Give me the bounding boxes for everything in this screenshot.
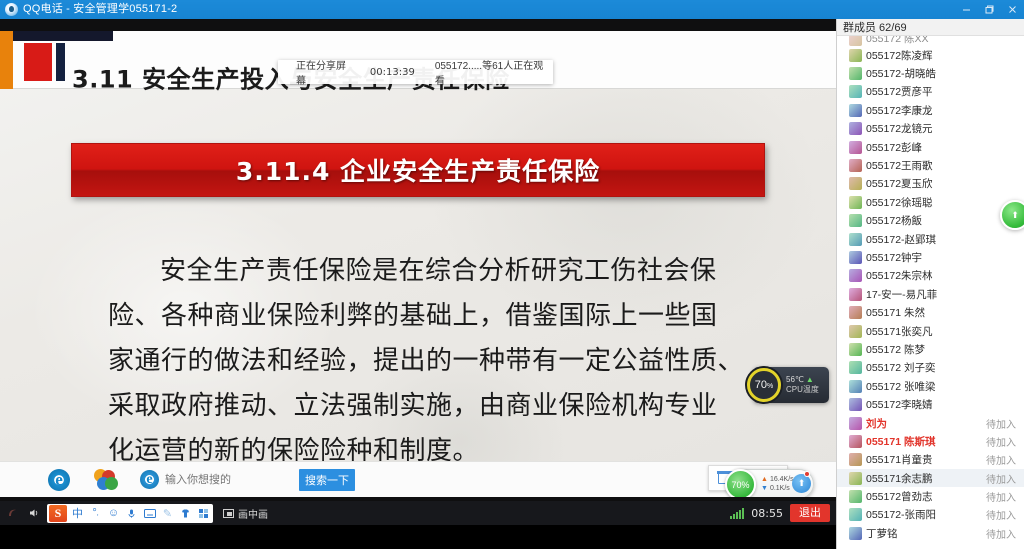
volume-icon[interactable]	[27, 506, 41, 520]
handwriting-icon[interactable]: ✎	[160, 506, 175, 521]
slide-body-line: 采取政府推动、立法强制实施，由商业保险机构专业	[108, 384, 738, 429]
member-avatar	[849, 49, 862, 62]
header-orange-bar	[0, 31, 13, 89]
cpu-temperature-value: 56℃▲	[786, 375, 819, 385]
member-avatar	[849, 288, 862, 301]
member-row[interactable]: 055172李晓婧	[837, 395, 1024, 413]
member-avatar	[849, 233, 862, 246]
member-avatar	[849, 343, 862, 356]
member-avatar	[849, 417, 862, 430]
minimize-icon[interactable]	[955, 0, 978, 19]
download-speed-value: 0.1K/s	[770, 484, 790, 493]
member-row[interactable]: 055172-胡晓皓	[837, 64, 1024, 82]
member-avatar	[849, 67, 862, 80]
member-row[interactable]: 丁萝铭待加入	[837, 524, 1024, 542]
member-status-badge: 待加入	[986, 471, 1016, 486]
member-row[interactable]: 055172彭峰	[837, 138, 1024, 156]
member-name: 055172彭峰	[866, 140, 1016, 155]
member-name: 丁萝铭	[866, 526, 982, 541]
ime-mode-chinese[interactable]: 中	[70, 506, 85, 521]
member-status-badge: 待加入	[986, 452, 1016, 467]
member-name: 055172杨飯	[866, 213, 1016, 228]
member-name: 055172陈凌辉	[866, 48, 1016, 63]
windows-taskbar: S 中 °, ☺ ✎	[0, 501, 836, 525]
search-engine-icon	[140, 470, 159, 489]
presentation-slide: 3.11 安全生产投入与安全生产责任保险 3.11.4 企业安全生产责任保险 安…	[0, 31, 836, 497]
upload-speed-row: ▲ 16.4K/s	[761, 475, 794, 484]
cpu-monitor-widget[interactable]: 70% 56℃▲ CPU温度	[753, 367, 829, 403]
upload-speed-value: 16.4K/s	[770, 475, 794, 484]
voice-input-icon[interactable]	[124, 506, 139, 521]
member-name: 055172李晓婧	[866, 397, 1016, 412]
close-icon[interactable]	[1001, 0, 1024, 19]
soft-keyboard-icon[interactable]	[142, 506, 157, 521]
restore-icon[interactable]	[978, 0, 1001, 19]
member-name: 055171余志鹏	[866, 471, 982, 486]
nvidia-icon[interactable]	[6, 506, 20, 520]
member-row[interactable]: 055172钟宇	[837, 248, 1024, 266]
window-titlebar: QQ电话 - 安全管理学055171-2	[0, 0, 1024, 19]
member-avatar	[849, 472, 862, 485]
system-tray	[0, 506, 41, 520]
slide-section-banner: 3.11.4 企业安全生产责任保险	[71, 143, 765, 197]
search-input[interactable]	[165, 473, 285, 486]
qq-phone-icon	[5, 3, 18, 16]
member-avatar	[849, 361, 862, 374]
member-status-badge: 待加入	[986, 526, 1016, 541]
header-dark-bar	[13, 31, 113, 41]
member-row[interactable]: 055172杨飯	[837, 212, 1024, 230]
member-name: 055172夏玉欣	[866, 176, 1016, 191]
member-name: 055172朱宗林	[866, 268, 1016, 283]
search-button[interactable]: 搜索一下	[299, 469, 355, 491]
member-name: 055172曾劲志	[866, 489, 982, 504]
taskbar-right-cluster: 08:55 退出	[730, 504, 836, 522]
member-row[interactable]: 055171 朱然	[837, 303, 1024, 321]
network-speed-widget[interactable]: 70% ▲ 16.4K/s ▼ 0.1K/s ⬆	[728, 469, 814, 497]
member-avatar	[849, 177, 862, 190]
sogou-ime-logo-icon[interactable]: S	[49, 505, 67, 522]
member-avatar	[849, 104, 862, 117]
member-status-badge: 待加入	[986, 489, 1016, 504]
member-avatar	[849, 527, 862, 540]
member-row[interactable]: 055171肖童贵待加入	[837, 451, 1024, 469]
member-row[interactable]: 17-安一-易凡菲	[837, 285, 1024, 303]
member-row[interactable]: 055172龙镜元	[837, 120, 1024, 138]
slide-body-text: 安全生产责任保险是在综合分析研究工伤社会保 险、各种商业保险利弊的基础上，借鉴国…	[108, 249, 738, 474]
member-name: 055172李康龙	[866, 103, 1016, 118]
member-row[interactable]: 055172 刘子奕	[837, 359, 1024, 377]
toolbox-icon[interactable]	[196, 506, 211, 521]
member-row[interactable]: 055171张奕凡	[837, 322, 1024, 340]
member-avatar	[849, 159, 862, 172]
member-panel-header: 群成员 62/69	[837, 19, 1024, 36]
arrow-down-icon: ▼	[761, 484, 768, 493]
arrow-up-icon: ▲	[761, 475, 768, 484]
cpu-usage-value: 70%	[755, 379, 773, 391]
member-row[interactable]: 刘为待加入	[837, 414, 1024, 432]
member-avatar	[849, 306, 862, 319]
exit-button[interactable]: 退出	[790, 504, 830, 522]
member-avatar	[849, 214, 862, 227]
floating-assistant-icon[interactable]: ⬆	[1000, 200, 1024, 230]
window-title: QQ电话 - 安全管理学055171-2	[23, 0, 177, 19]
punctuation-icon[interactable]: °,	[88, 506, 103, 521]
screen-share-status-bar[interactable]: 正在分享屏幕 00:13:39 055172.....等61人正在观看	[278, 60, 553, 84]
network-speed-readout: ▲ 16.4K/s ▼ 0.1K/s	[761, 475, 794, 494]
member-row[interactable]: 055172-赵郢琪	[837, 230, 1024, 248]
member-name: 055171 朱然	[866, 305, 1016, 320]
slide-body-line: 险、各种商业保险利弊的基础上，借鉴国际上一些国	[108, 294, 738, 339]
member-row[interactable]: 055172 陈梦	[837, 340, 1024, 358]
sogou-ime-toolbar[interactable]: S 中 °, ☺ ✎	[47, 504, 213, 523]
member-row[interactable]: 055172陈凌辉	[837, 46, 1024, 64]
shield-icon[interactable]: ⬆	[792, 474, 811, 493]
network-usage-value: 70%	[731, 480, 749, 490]
member-status-badge: 待加入	[986, 434, 1016, 449]
member-avatar	[849, 269, 862, 282]
member-avatar	[849, 325, 862, 338]
member-name: 055172 刘子奕	[866, 360, 1016, 375]
member-name: 055172钟宇	[866, 250, 1016, 265]
cpu-usage-dial: 70%	[747, 368, 781, 402]
member-name: 055172徐瑶聪	[866, 195, 1016, 210]
slide-banner-title: 3.11.4 企业安全生产责任保险	[236, 152, 600, 188]
member-count-label: 群成员 62/69	[843, 19, 907, 35]
member-avatar	[849, 196, 862, 209]
member-name: 055172 张唯梁	[866, 379, 1016, 394]
share-status-label: 正在分享屏幕	[296, 57, 356, 87]
member-status-badge: 待加入	[986, 416, 1016, 431]
navy-block-icon	[56, 43, 65, 81]
group-member-panel: 群成员 62/69 055172 陈XX055172陈凌辉055172-胡晓皓0…	[836, 19, 1024, 549]
member-list[interactable]: 055172 陈XX055172陈凌辉055172-胡晓皓055172贾彦平05…	[837, 36, 1024, 549]
download-speed-row: ▼ 0.1K/s	[761, 484, 794, 493]
member-row[interactable]: 055172徐瑶聪	[837, 193, 1024, 211]
member-row[interactable]: 055172夏玉欣	[837, 175, 1024, 193]
member-avatar	[849, 36, 862, 46]
member-row[interactable]: 055171余志鹏待加入	[837, 469, 1024, 487]
share-duration: 00:13:39	[370, 67, 415, 78]
red-block-icon	[24, 43, 52, 81]
member-name: 055171肖童贵	[866, 452, 982, 467]
network-usage-dial: 70%	[725, 469, 756, 497]
member-status-badge: 待加入	[986, 507, 1016, 522]
member-row[interactable]: 055172-张雨阳待加入	[837, 506, 1024, 524]
picture-in-picture-icon	[223, 509, 234, 518]
member-avatar	[849, 141, 862, 154]
member-name: 17-安一-易凡菲	[866, 287, 1016, 302]
member-name: 055171张奕凡	[866, 324, 1016, 339]
member-avatar	[849, 435, 862, 448]
member-name: 055172 陈梦	[866, 342, 1016, 357]
picture-in-picture-button[interactable]: 画中画	[223, 506, 268, 521]
member-avatar	[849, 490, 862, 503]
member-name: 055172 陈XX	[866, 36, 1016, 46]
member-avatar	[849, 398, 862, 411]
cpu-widget-readout: 56℃▲ CPU温度	[786, 375, 819, 395]
member-row[interactable]: 055171 陈斯琪待加入	[837, 432, 1024, 450]
arrow-up-green-icon: ▲	[806, 375, 814, 384]
window-controls	[955, 0, 1024, 19]
member-row[interactable]: 055172李康龙	[837, 101, 1024, 119]
member-row[interactable]: 055172贾彦平	[837, 83, 1024, 101]
share-viewers: 055172.....等61人正在观看	[435, 57, 553, 87]
member-row[interactable]: 055172曾劲志待加入	[837, 487, 1024, 505]
member-avatar	[849, 380, 862, 393]
member-row[interactable]: 055172王雨歌	[837, 156, 1024, 174]
taskbar-clock: 08:55	[751, 507, 783, 520]
member-avatar	[849, 251, 862, 264]
member-name: 刘为	[866, 416, 982, 431]
member-name: 055172龙镜元	[866, 121, 1016, 136]
screen-root: QQ电话 - 安全管理学055171-2	[0, 0, 1024, 549]
member-row[interactable]: 055172 陈XX	[837, 36, 1024, 46]
skin-icon[interactable]	[178, 506, 193, 521]
member-row[interactable]: 055172 张唯梁	[837, 377, 1024, 395]
member-name: 055172王雨歌	[866, 158, 1016, 173]
header-marks	[24, 43, 65, 81]
slide-body-line: 家通行的做法和经验，提出的一种带有一定公益性质、	[108, 339, 738, 384]
signal-strength-icon	[730, 508, 744, 519]
member-avatar	[849, 508, 862, 521]
sogou-browser-icon[interactable]	[94, 469, 118, 491]
internet-explorer-icon[interactable]	[48, 469, 70, 491]
member-name: 055172-赵郢琪	[866, 232, 1016, 247]
emoji-icon[interactable]: ☺	[106, 506, 121, 521]
shared-screen-stage[interactable]: 3.11 安全生产投入与安全生产责任保险 3.11.4 企业安全生产责任保险 安…	[0, 19, 836, 525]
member-name: 055172-张雨阳	[866, 507, 982, 522]
notification-dot-icon	[804, 471, 810, 477]
member-avatar	[849, 122, 862, 135]
slide-body-line: 安全生产责任保险是在综合分析研究工伤社会保	[108, 249, 738, 294]
member-name: 055171 陈斯琪	[866, 434, 982, 449]
member-name: 055172-胡晓皓	[866, 66, 1016, 81]
member-avatar	[849, 453, 862, 466]
cpu-temperature-label: CPU温度	[786, 385, 819, 395]
member-row[interactable]: 055172朱宗林	[837, 267, 1024, 285]
member-avatar	[849, 85, 862, 98]
picture-in-picture-label: 画中画	[238, 506, 268, 521]
member-name: 055172贾彦平	[866, 84, 1016, 99]
